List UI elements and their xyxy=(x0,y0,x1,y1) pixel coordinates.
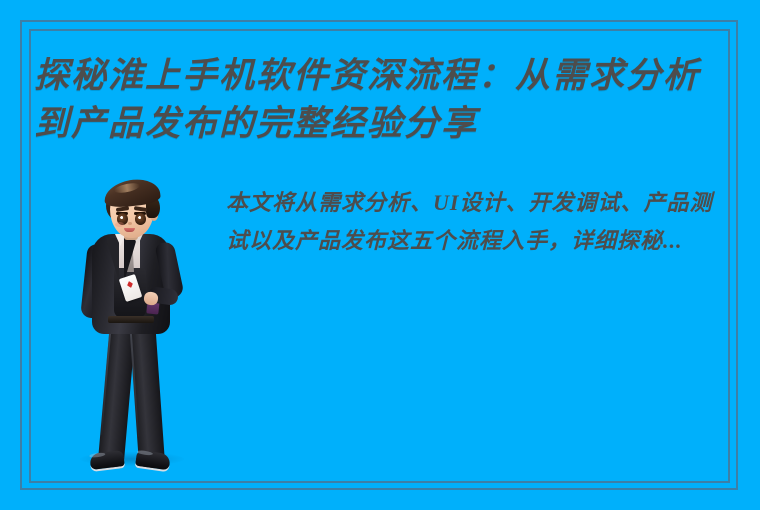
left-lapel xyxy=(106,238,119,282)
cheek-blush xyxy=(115,222,124,227)
shoe-highlight xyxy=(137,450,153,456)
article-title: 探秘淮上手机软件资深流程：从需求分析到产品发布的完整经验分享 xyxy=(34,52,734,148)
right-trouser-leg xyxy=(129,315,166,468)
article-summary: 本文将从需求分析、UI设计、开发调试、产品测试以及产品发布这五个流程入手，详细探… xyxy=(226,184,732,260)
character-illustration xyxy=(62,180,202,472)
nose xyxy=(128,222,132,225)
belt xyxy=(108,316,154,323)
shoe-highlight xyxy=(89,452,105,458)
right-eye xyxy=(135,213,146,225)
article-cover-banner: 探秘淮上手机软件资深流程：从需求分析到产品发布的完整经验分享 本文将从需求分析、… xyxy=(0,0,760,510)
